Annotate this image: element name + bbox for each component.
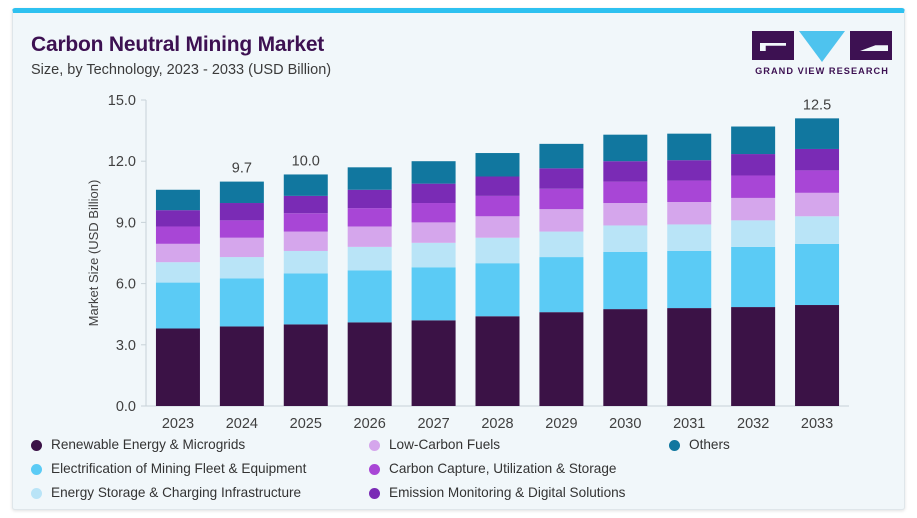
bar-segment	[348, 247, 392, 270]
bar-segment	[603, 135, 647, 162]
bar-segment	[667, 251, 711, 308]
page-subtitle: Size, by Technology, 2023 - 2033 (USD Bi…	[31, 62, 331, 78]
bar-segment	[220, 220, 264, 237]
bar-segment	[220, 238, 264, 257]
bar-segment	[603, 225, 647, 252]
y-axis-tick-label: 6.0	[116, 277, 136, 293]
bar-segment	[795, 118, 839, 149]
legend-column: Low-Carbon FuelsCarbon Capture, Utilizat…	[369, 433, 669, 505]
legend-color-swatch-icon	[369, 488, 380, 499]
bar-segment	[539, 189, 583, 209]
x-axis-tick-label: 2032	[737, 416, 769, 432]
legend-item[interactable]: Others	[669, 433, 869, 457]
bar-segment	[412, 267, 456, 320]
bar-segment	[603, 252, 647, 309]
bar-segment	[731, 307, 775, 406]
bar-segment	[731, 247, 775, 307]
bar-segment	[284, 232, 328, 251]
legend-item-label: Others	[689, 438, 730, 452]
bar-segment	[284, 251, 328, 273]
legend-color-swatch-icon	[369, 440, 380, 451]
legend-color-swatch-icon	[31, 464, 42, 475]
legend-item[interactable]: Electrification of Mining Fleet & Equipm…	[31, 457, 371, 481]
bar-segment	[284, 273, 328, 324]
bar-segment	[476, 153, 520, 176]
bar-segment	[731, 127, 775, 155]
legend-item-label: Carbon Capture, Utilization & Storage	[389, 462, 616, 476]
bar-segment	[476, 316, 520, 406]
bar-segment	[539, 257, 583, 312]
bar-segment	[603, 203, 647, 225]
chart-card: Carbon Neutral Mining Market Size, by Te…	[12, 8, 905, 510]
y-axis-tick-label: 15.0	[108, 93, 136, 109]
bar-segment	[539, 312, 583, 406]
bar-data-label: 9.7	[232, 161, 252, 177]
y-axis-tick-label: 3.0	[116, 338, 136, 354]
legend-item[interactable]: Renewable Energy & Microgrids	[31, 433, 371, 457]
bar-segment	[348, 208, 392, 226]
bar-segment	[539, 209, 583, 231]
bar-segment	[348, 190, 392, 208]
x-axis-tick-label: 2023	[162, 416, 194, 432]
bar-segment	[476, 196, 520, 216]
x-axis-tick-label: 2029	[545, 416, 577, 432]
x-axis-tick-label: 2033	[801, 416, 833, 432]
bar-segment	[795, 216, 839, 244]
bar-segment	[284, 324, 328, 406]
bar-segment	[156, 210, 200, 226]
bar-segment	[795, 193, 839, 216]
bar-segment	[731, 198, 775, 220]
legend-item[interactable]: Emission Monitoring & Digital Solutions	[369, 481, 669, 505]
bar-segment	[156, 328, 200, 406]
bar-segment	[795, 149, 839, 170]
bar-segment	[667, 181, 711, 202]
legend-color-swatch-icon	[369, 464, 380, 475]
legend-item-label: Renewable Energy & Microgrids	[51, 438, 245, 452]
y-axis-tick-label: 12.0	[108, 154, 136, 170]
x-axis-tick-label: 2025	[290, 416, 322, 432]
y-axis-tick-label: 9.0	[116, 215, 136, 231]
bar-segment	[476, 238, 520, 264]
legend-color-swatch-icon	[669, 440, 680, 451]
x-axis-tick-label: 2030	[609, 416, 641, 432]
y-axis-tick-label: 0.0	[116, 399, 136, 415]
bar-segment	[156, 262, 200, 282]
legend-color-swatch-icon	[31, 488, 42, 499]
bar-segment	[667, 134, 711, 161]
y-axis-title: Market Size (USD Billion)	[86, 180, 101, 327]
bar-segment	[667, 202, 711, 224]
bar-segment	[348, 322, 392, 406]
bar-segment	[348, 270, 392, 322]
bar-segment	[667, 308, 711, 406]
bar-segment	[476, 263, 520, 316]
legend-item-label: Energy Storage & Charging Infrastructure	[51, 486, 301, 500]
bar-segment	[539, 168, 583, 188]
bar-segment	[156, 283, 200, 329]
bar-segment	[412, 203, 456, 222]
bar-segment	[156, 226, 200, 243]
bar-segment	[412, 222, 456, 242]
bar-segment	[795, 244, 839, 305]
bar-segment	[731, 220, 775, 247]
logo-marks	[752, 31, 892, 61]
x-axis-tick-label: 2031	[673, 416, 705, 432]
bar-segment	[667, 224, 711, 251]
bar-segment	[539, 144, 583, 168]
bar-segment	[795, 305, 839, 406]
bar-segment	[539, 232, 583, 258]
bar-segment	[220, 257, 264, 278]
legend-column: Others	[669, 433, 869, 457]
legend-item[interactable]: Energy Storage & Charging Infrastructure	[31, 481, 371, 505]
bar-segment	[220, 182, 264, 203]
x-axis-tick-label: 2028	[481, 416, 513, 432]
bar-segment	[476, 177, 520, 196]
page-title: Carbon Neutral Mining Market	[31, 33, 324, 57]
bar-data-label: 12.5	[803, 97, 831, 113]
legend-item[interactable]: Low-Carbon Fuels	[369, 433, 669, 457]
bar-segment	[795, 170, 839, 192]
bar-segment	[156, 244, 200, 262]
bar-segment	[412, 320, 456, 406]
bar-segment	[476, 216, 520, 237]
legend-item-label: Electrification of Mining Fleet & Equipm…	[51, 462, 306, 476]
logo-letter-r-icon	[850, 31, 892, 60]
bar-segment	[348, 167, 392, 189]
logo-wordmark: GRAND VIEW RESEARCH	[752, 66, 892, 76]
grand-view-research-logo: GRAND VIEW RESEARCH	[752, 31, 892, 83]
legend-color-swatch-icon	[31, 440, 42, 451]
logo-letter-g-icon	[752, 31, 794, 60]
bar-segment	[220, 203, 264, 220]
bar-segment	[603, 182, 647, 203]
logo-letter-v-icon	[799, 31, 845, 62]
legend-item[interactable]: Carbon Capture, Utilization & Storage	[369, 457, 669, 481]
bar-segment	[348, 226, 392, 246]
bar-segment	[667, 160, 711, 180]
chart-legend: Renewable Energy & MicrogridsElectrifica…	[31, 433, 891, 505]
bar-segment	[603, 161, 647, 181]
bar-segment	[731, 175, 775, 197]
bar-segment	[220, 326, 264, 406]
bar-segment	[284, 196, 328, 213]
legend-item-label: Emission Monitoring & Digital Solutions	[389, 486, 625, 500]
bar-segment	[284, 213, 328, 231]
bar-segment	[284, 174, 328, 195]
bar-data-label: 10.0	[292, 153, 320, 169]
bar-segment	[156, 190, 200, 210]
bar-segment	[412, 243, 456, 267]
x-axis-tick-label: 2024	[226, 416, 258, 432]
bar-segment	[603, 309, 647, 406]
legend-item-label: Low-Carbon Fuels	[389, 438, 500, 452]
bar-segment	[412, 161, 456, 183]
bar-segment	[731, 154, 775, 175]
x-axis-tick-label: 2026	[354, 416, 386, 432]
bar-segment	[220, 279, 264, 327]
bar-segment	[412, 184, 456, 203]
legend-column: Renewable Energy & MicrogridsElectrifica…	[31, 433, 371, 505]
x-axis-tick-label: 2027	[417, 416, 449, 432]
